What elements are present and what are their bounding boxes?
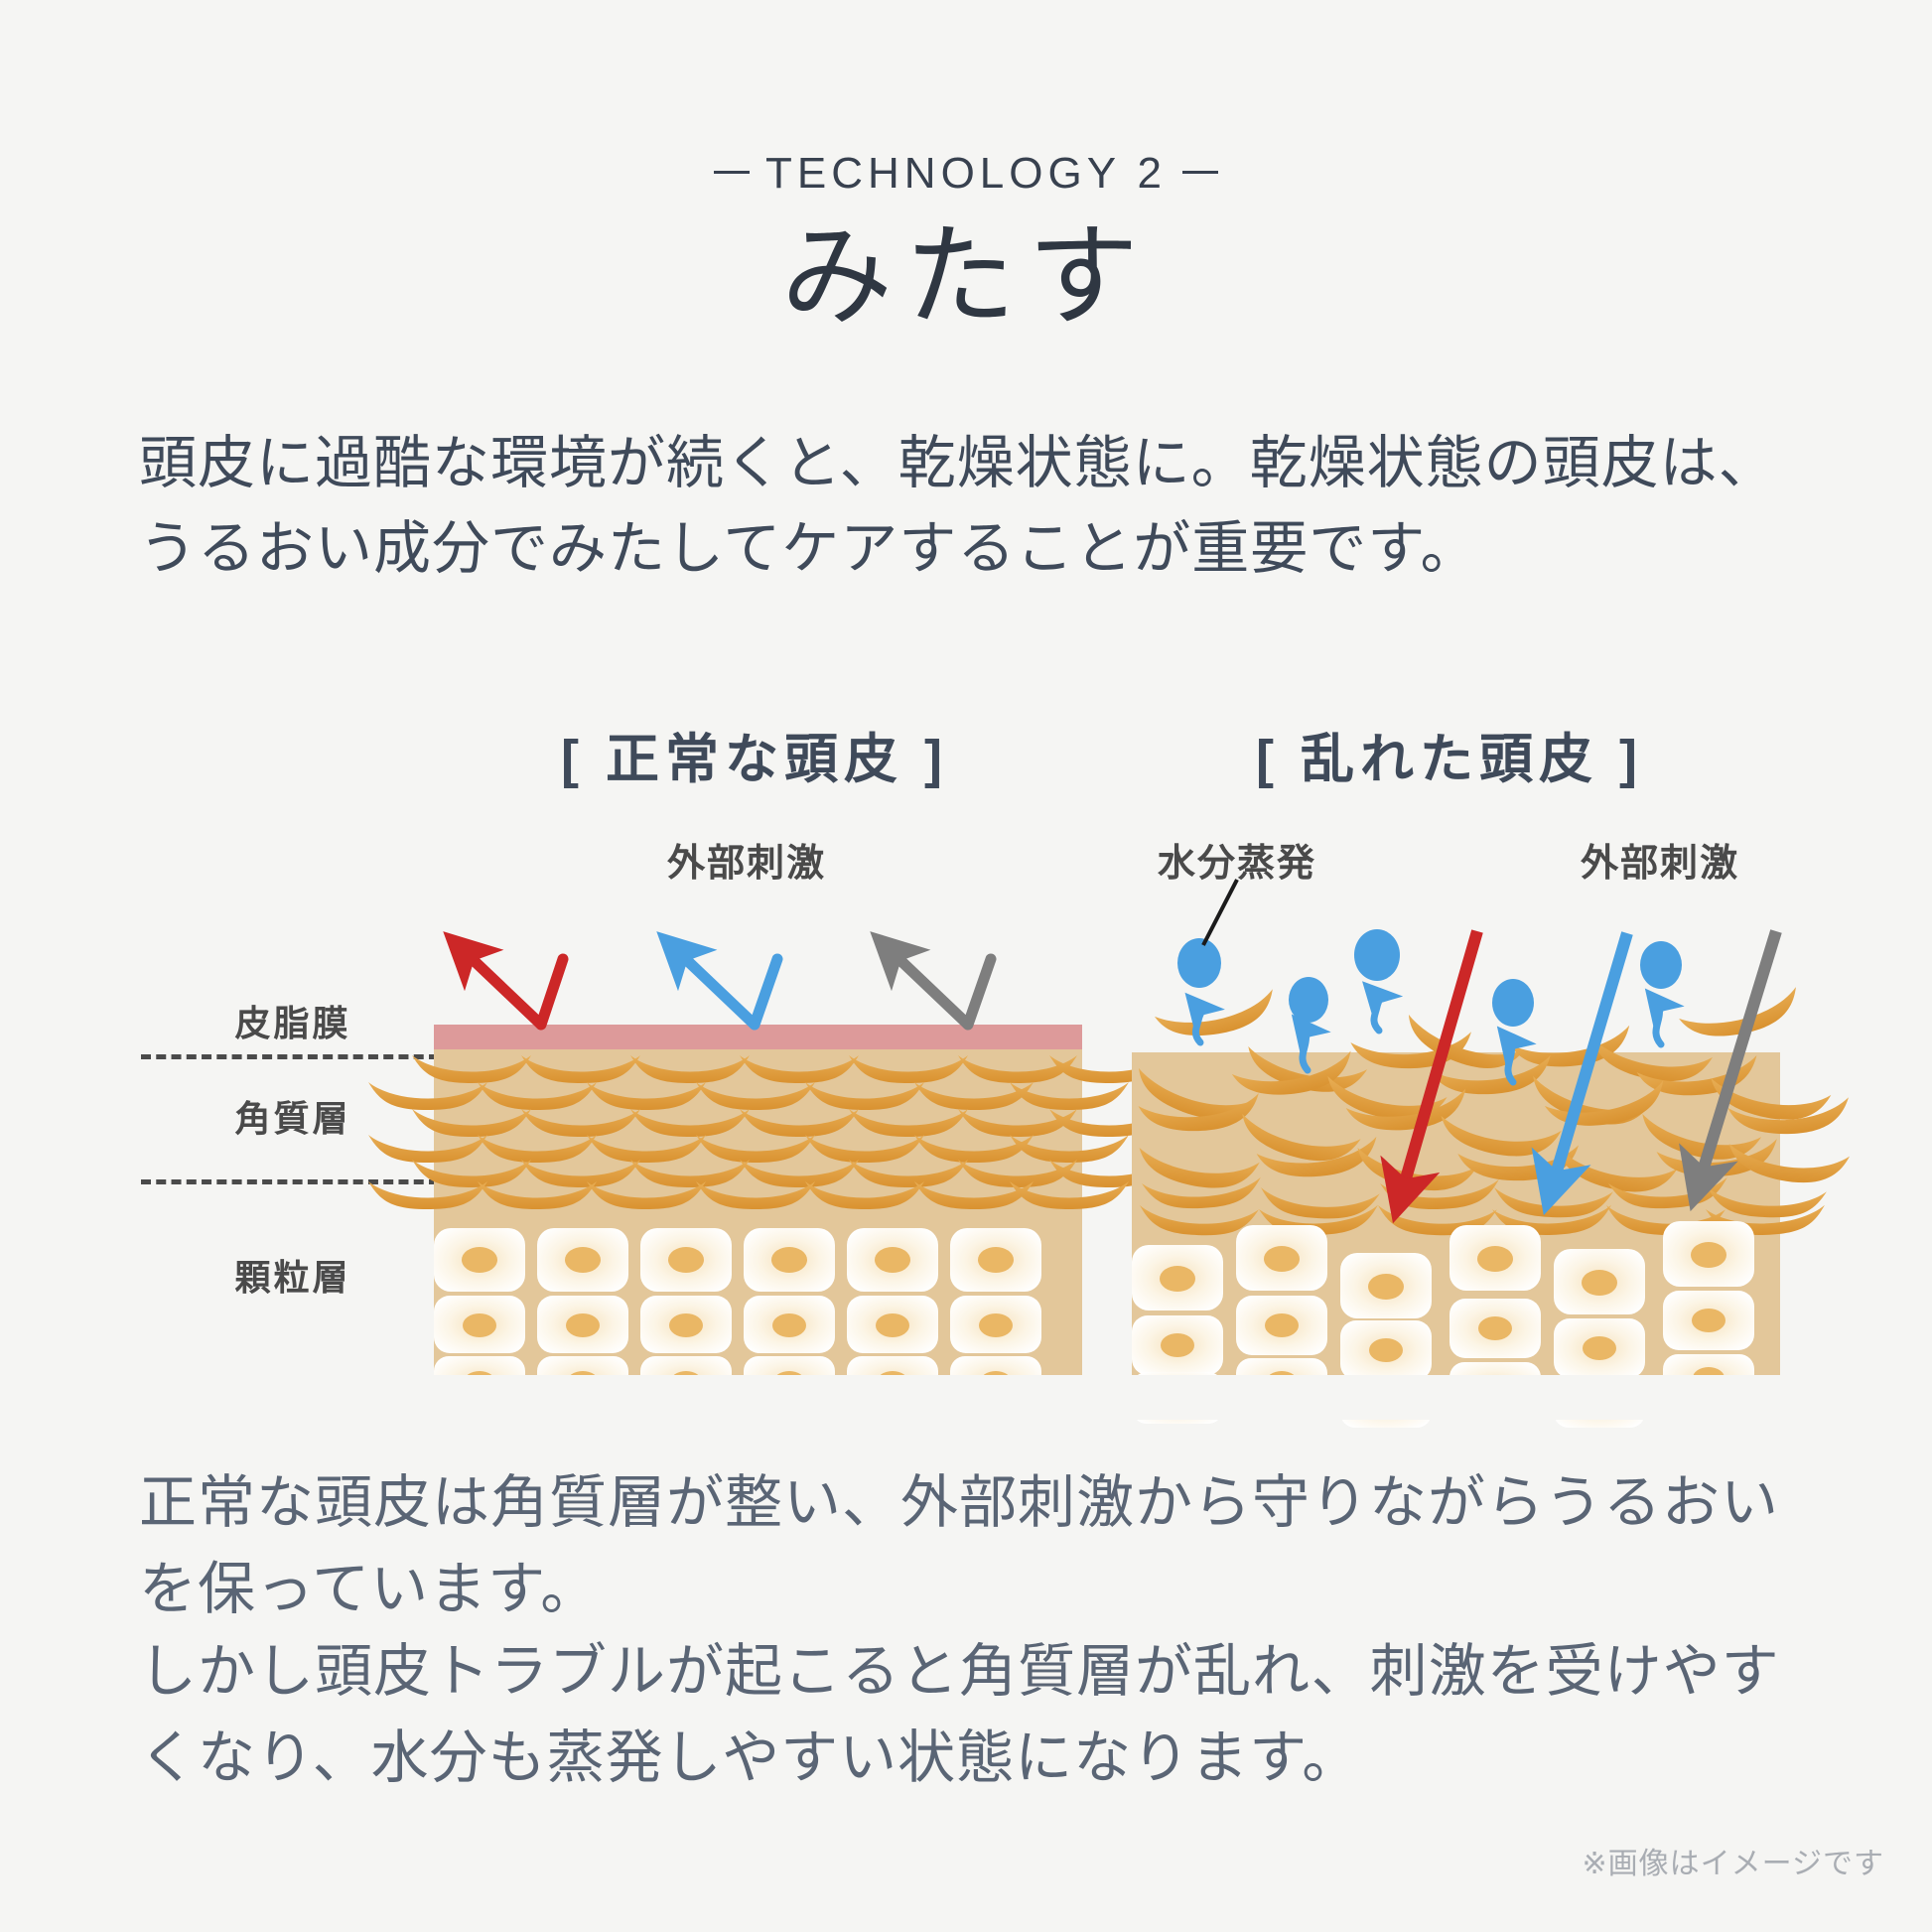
page-root: TECHNOLOGY 2 みたす 頭皮に過酷な環境が続くと、乾燥状態に。乾燥状態… [0, 0, 1932, 1932]
annotation-external-stimulus-left: 外部刺激 [667, 832, 826, 887]
penetrating-stimulus-arrows [1400, 931, 1776, 1199]
annotation-external-stimulus-right: 外部刺激 [1581, 832, 1739, 887]
granular-layer-left [434, 1228, 1041, 1410]
water-drop-icon [1354, 929, 1400, 981]
caption-disturbed-scalp: [ 乱れた頭皮 ] [1122, 715, 1777, 793]
stratum-corneum-right [1131, 985, 1852, 1237]
layer-label-stratum-corneum: 角質層 [164, 1090, 422, 1142]
water-drop-icon [1289, 977, 1328, 1023]
leader-line-evaporation [1203, 880, 1237, 945]
eyebrow-text: TECHNOLOGY 2 [765, 149, 1167, 198]
sebum-film-left [434, 1025, 1082, 1049]
evaporation-arrows [1195, 993, 1661, 1082]
skin-block-right [1132, 1052, 1780, 1375]
water-droplets [1177, 929, 1682, 1027]
dash-right-icon [1182, 171, 1218, 174]
dash-left-icon [714, 171, 750, 174]
skin-block-left [434, 1047, 1082, 1375]
eyebrow-label: TECHNOLOGY 2 [0, 149, 1932, 199]
water-drop-icon [1492, 979, 1534, 1027]
diagram-normal-scalp [368, 947, 1169, 1415]
guide-line-corneum [141, 1179, 439, 1184]
layer-label-sebum-film: 皮脂膜 [164, 995, 422, 1046]
body-paragraph-2: しかし頭皮トラブルが起こると角質層が乱れ、刺激を受けやすくなり、水分も蒸発しやす… [139, 1628, 1827, 1801]
granular-layer-right [1132, 1221, 1754, 1428]
stratum-corneum-left [368, 1055, 1169, 1209]
lead-paragraph: 頭皮に過酷な環境が続くと、乾燥状態に。乾燥状態の頭皮は、うるおい成分でみたしてケ… [139, 421, 1827, 592]
diagram-disturbed-scalp [1131, 880, 1852, 1428]
mask-below-right-block [1132, 1375, 1780, 1420]
image-disclaimer-footnote: ※画像はイメージです [1582, 1839, 1884, 1882]
water-drop-icon [1177, 938, 1221, 988]
layer-label-granular-layer: 顆粒層 [164, 1249, 422, 1301]
reflected-stimulus-arrows-left [460, 947, 991, 1025]
body-paragraph-1: 正常な頭皮は角質層が整い、外部刺激から守りながらうるおいを保っています。 [139, 1459, 1827, 1632]
page-title: みたす [0, 210, 1932, 344]
water-drop-icon [1640, 941, 1682, 989]
annotation-water-evaporation: 水分蒸発 [1158, 832, 1316, 887]
mask-below-left-block [434, 1375, 1082, 1415]
caption-normal-scalp: [ 正常な頭皮 ] [427, 715, 1082, 793]
guide-line-sebum [141, 1054, 439, 1059]
